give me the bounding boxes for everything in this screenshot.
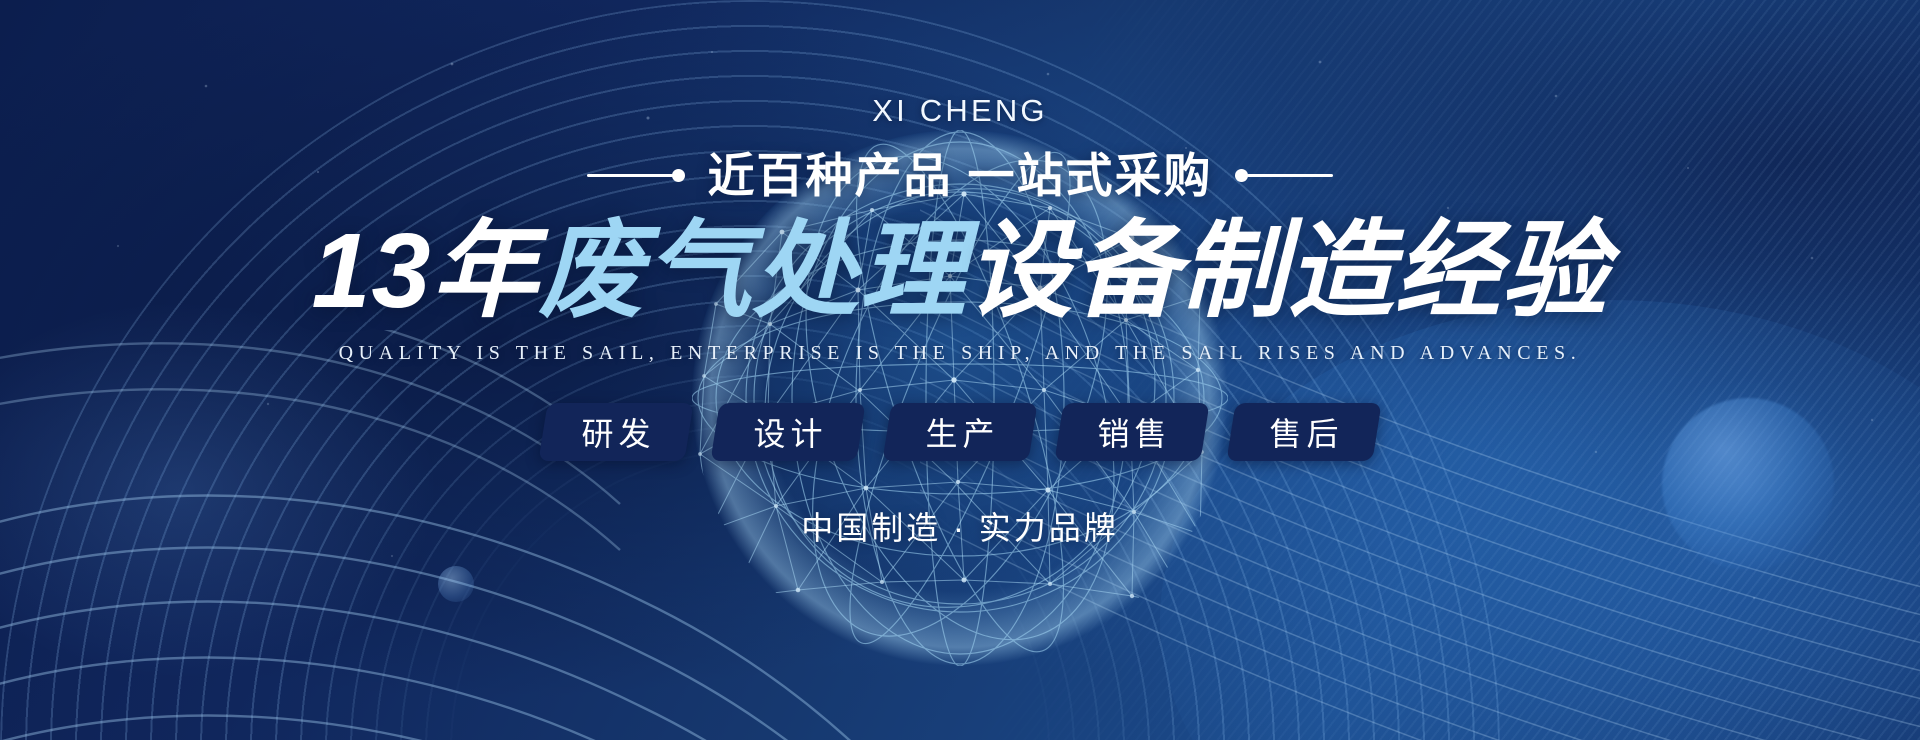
subtitle-row: 近百种产品 一站式采购 bbox=[587, 152, 1332, 199]
brand-name: XI CHENG bbox=[872, 95, 1047, 126]
footer-tagline: 中国制造 · 实力品牌 bbox=[801, 503, 1118, 549]
right-rule-decoration bbox=[1235, 169, 1333, 182]
headline-part-highlight: 废气处理 bbox=[538, 212, 966, 330]
headline: 13年废气处理设备制造经验 bbox=[312, 215, 1609, 328]
headline-part-rest: 设备制造经验 bbox=[966, 212, 1608, 330]
chip-rnd[interactable]: 研发 bbox=[543, 403, 689, 461]
banner-content: XI CHENG 近百种产品 一站式采购 13年废气处理设备制造经验 QUALI… bbox=[0, 0, 1920, 740]
chip-label: 售后 bbox=[1264, 409, 1343, 455]
chip-production[interactable]: 生产 bbox=[887, 403, 1033, 461]
chip-label: 设计 bbox=[748, 409, 827, 455]
chip-design[interactable]: 设计 bbox=[715, 403, 861, 461]
hero-banner: XI CHENG 近百种产品 一站式采购 13年废气处理设备制造经验 QUALI… bbox=[0, 0, 1920, 740]
left-rule-decoration bbox=[587, 169, 685, 182]
chip-aftersales[interactable]: 售后 bbox=[1231, 403, 1377, 461]
rule-bar bbox=[1247, 174, 1333, 177]
headline-part-years: 13年 bbox=[312, 212, 539, 330]
rule-bar bbox=[587, 174, 673, 177]
chip-label: 研发 bbox=[576, 409, 655, 455]
chip-sales[interactable]: 销售 bbox=[1059, 403, 1205, 461]
rule-dot-icon bbox=[672, 169, 685, 182]
subtitle-text: 近百种产品 一站式采购 bbox=[707, 152, 1212, 199]
chip-label: 销售 bbox=[1092, 409, 1171, 455]
service-stage-chips: 研发 设计 生产 销售 售后 bbox=[543, 403, 1377, 461]
english-tagline: QUALITY IS THE SAIL, ENTERPRISE IS THE S… bbox=[339, 342, 1582, 365]
rule-dot-icon bbox=[1235, 169, 1248, 182]
chip-label: 生产 bbox=[920, 409, 999, 455]
